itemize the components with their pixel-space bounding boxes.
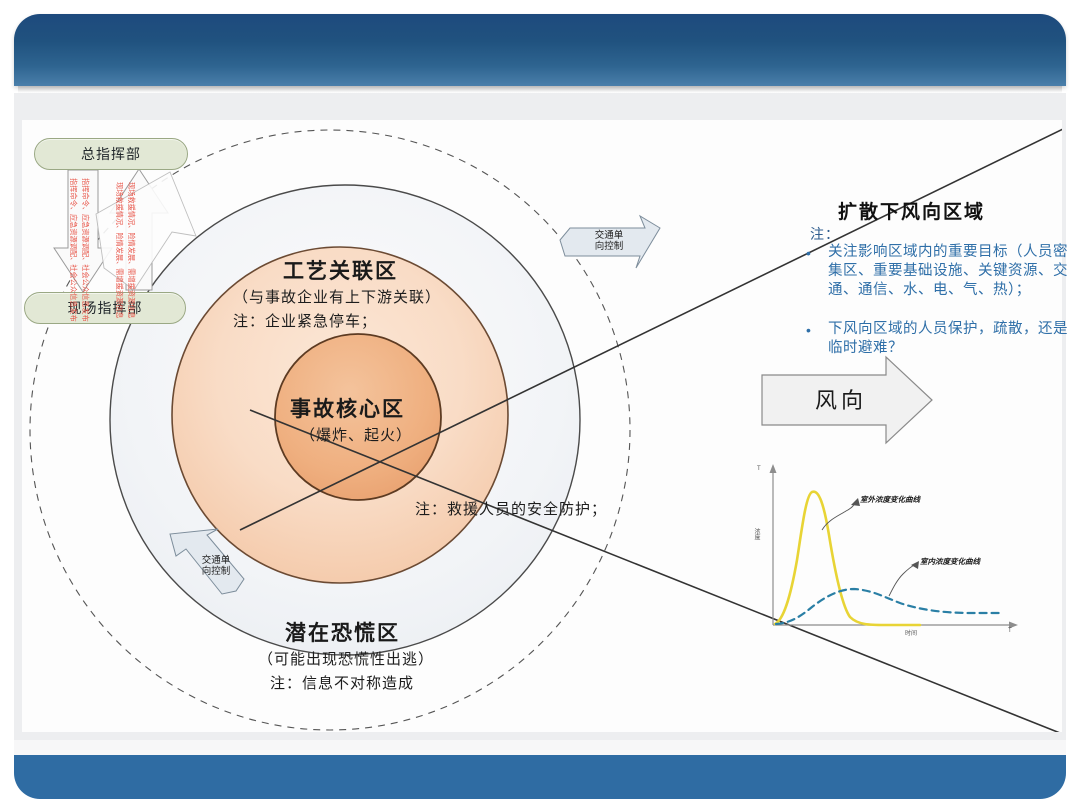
traffic-control-label-top: 交通单 向控制 (583, 230, 635, 252)
process-zone-note: 注：企业紧急停车； (233, 310, 377, 331)
chart-y-axis-label: 浓度 (752, 528, 762, 543)
down-arrow-text: 指挥命令、应急资源调配、社会公众信息发布 (68, 178, 78, 322)
rescue-protection-note: 注：救援人员的安全防护； (415, 498, 607, 519)
downwind-bullet-2-text: 下风向区域的人员保护，疏散，还是临时避难？ (828, 320, 1068, 358)
indoor-curve (776, 589, 1000, 624)
chart-series-label-outdoor: 室外浓度变化曲线 (860, 494, 920, 505)
bullet-dot-icon: • (806, 244, 811, 263)
slide-page: 总指挥部 现场指挥部 指挥命令、应急资源调配、社会公众信息发布 指挥命令、应急资… (0, 0, 1080, 810)
downwind-bullet-1: • 关注影响区域内的重要目标（人员密集区、重要基础设施、关键资源、交通、通信、水… (806, 243, 1068, 300)
diagram-artwork (0, 0, 1080, 810)
core-zone-subtitle: （爆炸、起火） (300, 424, 412, 445)
process-zone-title: 工艺关联区 (283, 255, 398, 285)
box-field-command[interactable]: 现场指挥部 (24, 292, 186, 324)
traffic-label-line2: 向控制 (583, 241, 635, 252)
traffic-label-line2-b: 向控制 (190, 566, 242, 577)
core-zone-title: 事故核心区 (290, 393, 405, 423)
process-zone-subtitle: （与事故企业有上下游关联） (233, 286, 441, 307)
chart-x-axis-label: 时间 (905, 628, 917, 637)
up-arrow-text: 现场救援情况、险情发展、需增援资源信息 (114, 182, 124, 319)
box-general-command[interactable]: 总指挥部 (34, 138, 188, 170)
downwind-bullet-2: • 下风向区域的人员保护，疏散，还是临时避难？ (806, 320, 1068, 358)
outdoor-curve (775, 492, 920, 625)
outdoor-label-arrowhead (851, 498, 860, 506)
wind-direction-label: 风向 (815, 383, 867, 415)
panic-zone-note: 注：信息不对称造成 (270, 672, 414, 693)
chart-y-axis-arrow-label: T (757, 466, 761, 472)
downwind-note-label: 注： (810, 224, 840, 244)
concentration-chart (770, 464, 1019, 629)
chart-series-label-indoor: 室内浓度变化曲线 (920, 556, 980, 567)
chart-x-axis-arrow-label: T (1008, 628, 1012, 634)
box-general-command-label: 总指挥部 (81, 144, 141, 164)
panic-zone-title: 潜在恐慌区 (285, 617, 400, 647)
traffic-label-line1: 交通单 (583, 230, 635, 241)
bullet-dot-icon-2: • (806, 321, 811, 340)
indoor-label-leader (889, 564, 916, 596)
traffic-control-label-bottom: 交通单 向控制 (190, 555, 242, 577)
indoor-label-arrowhead (911, 561, 919, 569)
downwind-title: 扩散下风向区域 (838, 197, 985, 224)
chart-y-arrow (770, 464, 777, 473)
chart-ylabel-text: 浓度 (752, 528, 759, 540)
traffic-label-line1-b: 交通单 (190, 555, 242, 566)
down-arrow-text-2: 指挥命令、应急资源调配、社会公众信息发布 (80, 178, 90, 322)
up-arrow-text-2: 现场救援情况、险情发展、需增援资源信息 (126, 182, 136, 319)
downwind-bullet-1-text: 关注影响区域内的重要目标（人员密集区、重要基础设施、关键资源、交通、通信、水、电… (828, 243, 1068, 300)
panic-zone-subtitle: （可能出现恐慌性出逃） (258, 648, 434, 669)
